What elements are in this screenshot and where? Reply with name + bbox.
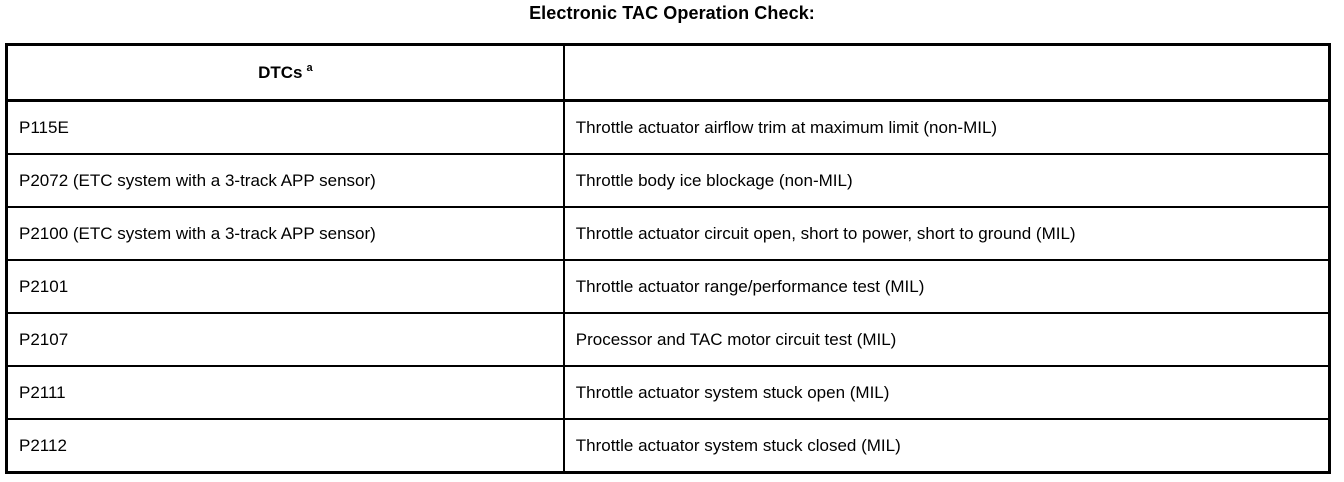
- cell-dtc-code: P2112: [7, 419, 564, 473]
- cell-dtc-description: Throttle actuator system stuck open (MIL…: [564, 366, 1330, 419]
- dtc-table: DTCsa P115E Throttle actuator airflow tr…: [5, 43, 1331, 474]
- table-row: P2112 Throttle actuator system stuck clo…: [7, 419, 1330, 473]
- cell-dtc-code: P2107: [7, 313, 564, 366]
- table-row: P2111 Throttle actuator system stuck ope…: [7, 366, 1330, 419]
- cell-dtc-code: P2111: [7, 366, 564, 419]
- column-header-dtcs-label: DTCs: [258, 63, 302, 82]
- cell-dtc-code: P2100 (ETC system with a 3-track APP sen…: [7, 207, 564, 260]
- cell-dtc-description: Processor and TAC motor circuit test (MI…: [564, 313, 1330, 366]
- table-header-row: DTCsa: [7, 45, 1330, 101]
- dtc-table-container: DTCsa P115E Throttle actuator airflow tr…: [5, 43, 1331, 474]
- cell-dtc-description: Throttle actuator airflow trim at maximu…: [564, 101, 1330, 155]
- table-row: P2107 Processor and TAC motor circuit te…: [7, 313, 1330, 366]
- table-row: P2072 (ETC system with a 3-track APP sen…: [7, 154, 1330, 207]
- cell-dtc-description: Throttle actuator range/performance test…: [564, 260, 1330, 313]
- column-header-dtcs: DTCsa: [7, 45, 564, 101]
- table-row: P2100 (ETC system with a 3-track APP sen…: [7, 207, 1330, 260]
- cell-dtc-description: Throttle actuator circuit open, short to…: [564, 207, 1330, 260]
- document-page: Electronic TAC Operation Check: DTCsa: [0, 0, 1344, 482]
- table-header: DTCsa: [7, 45, 1330, 101]
- cell-dtc-code: P115E: [7, 101, 564, 155]
- column-header-description: [564, 45, 1330, 101]
- cell-dtc-code: P2101: [7, 260, 564, 313]
- cell-dtc-code: P2072 (ETC system with a 3-track APP sen…: [7, 154, 564, 207]
- table-body: P115E Throttle actuator airflow trim at …: [7, 101, 1330, 473]
- table-row: P2101 Throttle actuator range/performanc…: [7, 260, 1330, 313]
- cell-dtc-description: Throttle actuator system stuck closed (M…: [564, 419, 1330, 473]
- table-row: P115E Throttle actuator airflow trim at …: [7, 101, 1330, 155]
- cell-dtc-description: Throttle body ice blockage (non-MIL): [564, 154, 1330, 207]
- footnote-marker-a: a: [307, 62, 313, 74]
- page-title: Electronic TAC Operation Check:: [0, 2, 1344, 24]
